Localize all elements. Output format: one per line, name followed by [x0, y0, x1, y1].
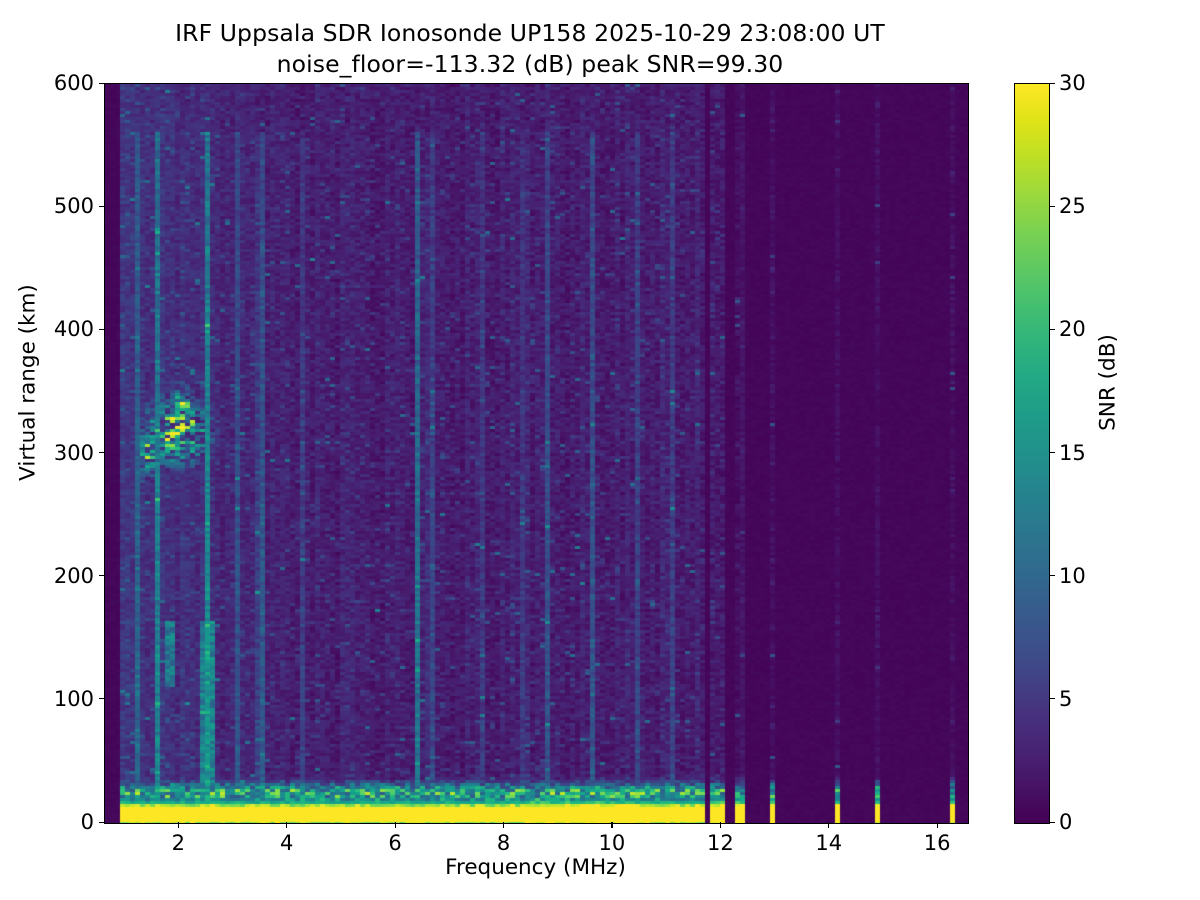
ionogram-plot-area[interactable] — [104, 83, 969, 824]
colorbar-tick-mark — [1049, 452, 1055, 453]
colorbar-tick-mark — [1049, 822, 1055, 823]
colorbar-tick-label: 5 — [1059, 687, 1072, 711]
x-tick-label: 8 — [497, 831, 510, 855]
title-line-1: IRF Uppsala SDR Ionosonde UP158 2025-10-… — [175, 19, 885, 47]
y-tick-label: 100 — [54, 687, 94, 711]
x-tick-mark — [937, 822, 938, 828]
x-tick-mark — [286, 822, 287, 828]
figure-title: IRF Uppsala SDR Ionosonde UP158 2025-10-… — [0, 18, 1060, 81]
colorbar-tick-mark — [1049, 575, 1055, 576]
x-tick-label: 16 — [924, 831, 951, 855]
x-tick-mark — [611, 822, 612, 828]
colorbar-tick-label: 10 — [1059, 564, 1086, 588]
x-tick-mark — [503, 822, 504, 828]
snr-heatmap — [105, 84, 968, 823]
x-tick-mark — [395, 822, 396, 828]
x-tick-mark — [720, 822, 721, 828]
colorbar-tick-mark — [1049, 329, 1055, 330]
x-tick-label: 2 — [172, 831, 185, 855]
y-tick-label: 0 — [81, 810, 94, 834]
colorbar-gradient — [1014, 83, 1050, 824]
ionogram-figure: IRF Uppsala SDR Ionosonde UP158 2025-10-… — [0, 0, 1200, 900]
x-tick-label: 4 — [280, 831, 293, 855]
colorbar-tick-label: 0 — [1059, 810, 1072, 834]
y-tick-mark — [99, 206, 105, 207]
y-axis-label: Virtual range (km) — [16, 33, 41, 733]
colorbar-tick-label: 15 — [1059, 441, 1086, 465]
y-tick-label: 200 — [54, 564, 94, 588]
y-tick-mark — [99, 83, 105, 84]
colorbar-label: SNR (dB) — [1096, 193, 1121, 573]
colorbar-tick-label: 20 — [1059, 317, 1086, 341]
colorbar-tick-mark — [1049, 83, 1055, 84]
y-tick-mark — [99, 822, 105, 823]
x-tick-mark — [178, 822, 179, 828]
colorbar-tick-label: 25 — [1059, 194, 1086, 218]
y-tick-mark — [99, 698, 105, 699]
y-tick-mark — [99, 452, 105, 453]
y-tick-mark — [99, 575, 105, 576]
colorbar-tick-mark — [1049, 206, 1055, 207]
x-tick-label: 14 — [815, 831, 842, 855]
y-tick-label: 400 — [54, 317, 94, 341]
x-tick-label: 10 — [599, 831, 626, 855]
y-tick-label: 300 — [54, 441, 94, 465]
colorbar-tick-mark — [1049, 698, 1055, 699]
x-tick-label: 6 — [388, 831, 401, 855]
x-axis-label: Frequency (MHz) — [104, 855, 967, 880]
colorbar-tick-label: 30 — [1059, 71, 1086, 95]
x-tick-mark — [828, 822, 829, 828]
y-tick-label: 500 — [54, 194, 94, 218]
y-tick-label: 600 — [54, 71, 94, 95]
title-line-2: noise_floor=-113.32 (dB) peak SNR=99.30 — [0, 49, 1060, 80]
x-tick-label: 12 — [707, 831, 734, 855]
y-tick-mark — [99, 329, 105, 330]
